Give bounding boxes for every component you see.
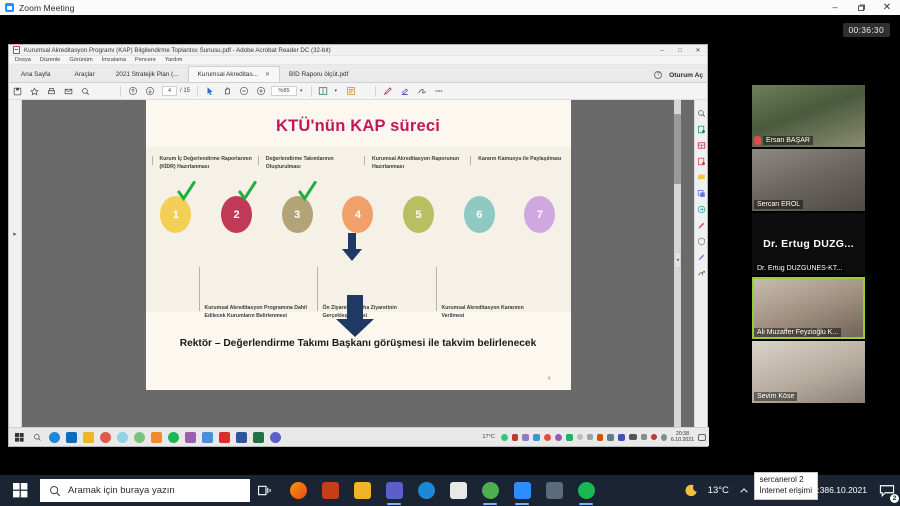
shared-systray: 17°C [482,431,706,444]
acrobat-close-button[interactable]: ✕ [689,45,707,56]
slide-content: KTÜ'nün KAP süreci Kurum İç Değerlendirm… [146,100,571,390]
down-arrow-icon-large [332,295,378,339]
acrobat-toolbar: 4 / 15 %85 ▾ [9,83,707,100]
shared-volume-icon[interactable] [651,434,657,440]
slide-conclusion-text: Rektör – Değerlendirme Takımı Başkanı gö… [176,336,541,352]
shared-tray-icon-5[interactable] [544,434,551,441]
hand-tool-icon[interactable] [218,83,235,100]
checkmark-icon [298,180,317,202]
taskbar-app-video[interactable] [538,475,570,506]
clock-date: 6.10.2021 [829,485,867,496]
step-5: 5 [388,196,449,233]
fill-sign-icon[interactable] [696,252,707,263]
shared-app-spotify[interactable] [165,428,182,447]
shared-app-photos[interactable] [199,428,216,447]
menu-item-gorunum[interactable]: Görünüm [69,57,92,63]
shared-tray-icon-10[interactable] [597,434,603,441]
protect-icon[interactable] [696,236,707,247]
organize-pages-icon[interactable] [696,140,707,151]
tick-mark [364,156,365,165]
tick-mark [152,156,153,165]
zoom-window-titlebar: Zoom Meeting – ✕ [0,0,900,15]
minimize-button[interactable]: – [822,0,848,15]
bottom-label-1: Kurumsal Akreditasyon Programına Dahil E… [205,305,317,320]
edit-pdf-icon[interactable] [696,220,707,231]
meeting-timer: 00:36:30 [843,23,891,37]
page-number-input[interactable]: 4 [162,86,177,96]
highlight-icon[interactable] [396,83,413,100]
shared-desktop-taskbar: 17°C [9,427,709,446]
participant-name: Ersan BAŞAR [763,136,813,145]
sign-icon[interactable] [413,83,430,100]
search-input[interactable]: Aramak için buraya yazın [40,479,250,502]
top-label-text: Kararın Kamuoyu ile Paylaşılması [478,156,570,164]
acrobat-window-controls: – □ ✕ [653,45,707,56]
shared-search-icon[interactable] [29,428,46,447]
more-tools-icon[interactable] [430,83,447,100]
shared-tray-icon-6[interactable] [555,434,562,441]
taskbar-app-zoom[interactable] [506,475,538,506]
pen-icon[interactable] [379,83,396,100]
comment-icon[interactable] [696,172,707,183]
save-icon[interactable] [9,83,26,100]
star-icon[interactable] [26,83,43,100]
print-icon[interactable] [43,83,60,100]
step-circle: 4 [342,196,373,233]
slide-step-circles: 1 2 3 [146,196,571,233]
checkmark-icon [238,180,257,202]
step-4: 4 [328,196,389,233]
shared-tray-icon-13[interactable] [629,434,637,440]
help-icon[interactable]: ? [654,71,662,79]
top-label-1: Kurum İç Değerlendirme Raporlarının (KİD… [146,156,252,171]
top-label-4: Kararın Kamuoyu ile Paylaşılması [464,156,570,171]
slide-page: KTÜ'nün KAP süreci Kurum İç Değerlendirm… [146,100,571,390]
bottom-label-text: Kurumsal Akreditasyon Kararının Verilmes… [442,305,524,319]
zoom-window-title: Zoom Meeting [19,3,75,13]
shared-app-chrome[interactable] [97,428,114,447]
toolbar-divider-4 [375,86,376,97]
maximize-icon [857,4,865,12]
step-2: 2 [206,196,267,233]
slide-top-labels: Kurum İç Değerlendirme Raporlarının (KİD… [146,156,571,171]
participant-display-name: Dr. Ertug DUZG... [752,238,865,250]
step-6: 6 [449,196,510,233]
top-label-2: Değerlendirme Takımlarının Oluşturulması [252,156,358,171]
shared-app-excel[interactable] [250,428,267,447]
shared-clock[interactable]: 20:38 6.10.2021 [671,431,694,444]
acrobat-document-area: ▸ KTÜ'nün KAP süreci Kurum İç Değerlendi… [9,100,707,446]
shared-app-onenote[interactable] [182,428,199,447]
previous-page-icon[interactable] [124,83,141,100]
shared-tray-icon-12[interactable] [618,434,625,441]
acrobat-app-icon [13,46,20,54]
shared-notifications-icon[interactable] [698,434,706,441]
mic-muted-icon [754,136,761,145]
video-tile-ertug-duzgunes[interactable]: Dr. Ertug DUZG... Dr. Ertug DUZGUNES-KT.… [752,213,865,275]
maximize-button[interactable] [848,0,874,15]
task-view-button[interactable] [250,475,280,506]
shared-tray-icon-1[interactable] [501,434,508,441]
tab-bid-raporu[interactable]: BİD Raporu ölçüt.pdf [280,66,357,82]
acrobat-minimize-button[interactable]: – [653,45,671,56]
tab-close-icon[interactable]: ✕ [265,71,270,78]
acrobat-window-title: Kurumsal Akreditasyon Programı (KAP) Bil… [24,47,331,54]
left-navigation-panel[interactable]: ▸ [9,100,22,446]
next-page-icon[interactable] [141,83,158,100]
notification-count: 2 [890,494,899,503]
menu-item-duzenle[interactable]: Düzenle [40,57,61,63]
search-tool-icon[interactable] [696,108,707,119]
redact-icon[interactable] [696,268,707,279]
zoom-out-icon[interactable] [235,83,252,100]
shared-network-icon[interactable] [641,434,647,440]
checkmark-icon [177,180,196,202]
tick-mark [199,267,200,311]
tick-mark [436,267,437,311]
page-display-caret-icon[interactable]: ▾ [335,88,338,94]
shared-tray-icon-4[interactable] [533,434,540,441]
tab-label: Kurumsal Akreditas... [198,71,258,78]
chevron-down-icon[interactable]: ▾ [300,88,303,94]
taskbar-app-whatsapp[interactable] [442,475,474,506]
shared-app-acrobat[interactable] [216,428,233,447]
search-placeholder: Aramak için buraya yazın [68,485,175,496]
tab-stratejik-plan[interactable]: 2021 Stratejik Plan (... [107,66,188,82]
shared-tray-icon-3[interactable] [522,434,529,441]
tick-mark [258,156,259,165]
search-icon[interactable] [77,83,94,100]
taskbar-app-firefox[interactable] [282,475,314,506]
notifications-button[interactable]: 2 [874,475,900,506]
taskbar-app-spotify[interactable] [570,475,602,506]
step-circle: 5 [403,196,434,233]
shared-app-edge[interactable] [46,428,63,447]
toolbar-divider-3 [311,86,312,97]
start-button[interactable] [0,475,40,506]
bottom-label-text: Kurumsal Akreditasyon Programına Dahil E… [205,305,307,319]
shared-app-qbittorrent[interactable] [131,428,148,447]
video-tile-sercan-erol[interactable]: Sercan EROL [752,149,865,211]
scrollbar-thumb[interactable] [674,114,681,184]
toolbar-divider [120,86,121,97]
acrobat-maximize-button[interactable]: □ [671,45,689,56]
shared-tray-icon-11[interactable] [607,434,614,441]
right-tools-panel [694,100,707,446]
tick-mark [317,267,318,311]
page-display-icon[interactable] [315,83,332,100]
top-label-text: Değerlendirme Takımlarının Oluşturulması [266,156,358,171]
shared-battery-icon[interactable] [661,434,667,441]
tick-mark [470,156,471,165]
taskbar-app-folder[interactable] [346,475,378,506]
screen-root: Zoom Meeting – ✕ 00:36:30 Kurumsal Akred… [0,0,900,506]
tab-araclar[interactable]: Araçlar [63,66,107,82]
menu-item-pencere[interactable]: Pencere [135,57,156,63]
shared-app-folder[interactable] [80,428,97,447]
zoom-level-select[interactable]: %85 [271,86,297,96]
bottom-label-3: Kurumsal Akreditasyon Kararının Verilmes… [442,305,542,320]
close-button[interactable]: ✕ [874,0,900,15]
windows-taskbar: Aramak için buraya yazın 13°C [0,475,900,506]
taskbar-app-office[interactable] [314,475,346,506]
top-label-text: Kurum İç Değerlendirme Raporlarının (KİD… [160,156,252,171]
video-tile-ersan-basar[interactable]: Ersan BAŞAR [752,85,865,147]
tab-kurumsal-akreditasyon[interactable]: Kurumsal Akreditas... ✕ [188,66,280,82]
pdf-page-canvas[interactable]: KTÜ'nün KAP süreci Kurum İç Değerlendirm… [22,100,694,446]
chevron-right-icon[interactable]: ▸ [13,230,17,238]
combine-files-icon[interactable] [696,188,707,199]
shared-clock-date: 6.10.2021 [671,437,694,444]
shared-tray-icon-7[interactable] [566,434,573,441]
step-circle: 7 [524,196,555,233]
menu-item-dosya[interactable]: Dosya [15,57,31,63]
shared-screen-area: Kurumsal Akreditasyon Programı (KAP) Bil… [8,44,708,447]
shared-app-outlook[interactable] [63,428,80,447]
step-1: 1 [146,196,207,233]
step-7: 7 [510,196,571,233]
top-label-text: Kurumsal Akreditasyon Raporunun Hazırlan… [372,156,464,171]
top-label-3: Kurumsal Akreditasyon Raporunun Hazırlan… [358,156,464,171]
shared-app-notes[interactable] [148,428,165,447]
participant-name: Dr. Ertug DUZGUNES-KT... [754,264,845,273]
acrobat-tabbar-right: ? Oturum Aç [654,71,703,79]
step-circle: 6 [464,196,495,233]
taskbar-app-chrome[interactable] [474,475,506,506]
document-scrollbar[interactable] [674,100,681,446]
step-3: 3 [267,196,328,233]
shared-start-button[interactable] [9,428,29,447]
slide-title: KTÜ'nün KAP süreci [146,117,571,136]
acrobat-tabbar: Ana Sayfa Araçlar 2021 Stratejik Plan (.… [9,65,707,83]
zoom-in-icon[interactable] [252,83,269,100]
toolbar-divider-2 [197,86,198,97]
zoom-logo-icon [5,3,14,12]
network-tooltip: sercanerol 2 İnternet erişimi [754,472,818,500]
show-hidden-icons-button[interactable] [734,475,754,506]
participant-name: Ali Muzaffer Feyzioğlu K... [754,328,841,337]
menu-item-yardim[interactable]: Yardım [165,57,183,63]
shared-tray-icon-8[interactable] [577,434,583,440]
down-arrow-icon-small [340,233,364,263]
network-status: İnternet erişimi [760,486,812,497]
create-pdf-icon[interactable] [696,156,707,167]
collapse-right-pane-button[interactable]: ◂ [674,252,681,268]
acrobat-menubar: Dosya Düzenle Görünüm İmzalama Pencere Y… [9,56,707,65]
read-aloud-icon[interactable] [342,83,359,100]
shared-tray-icon-9[interactable] [587,434,593,440]
zoom-level-value: %85 [278,88,289,94]
weather-icon[interactable] [679,475,703,506]
taskbar-apps [282,475,602,506]
page-navigator: 4 / 15 [162,86,190,96]
tab-ana-sayfa[interactable]: Ana Sayfa [9,66,63,82]
network-ssid: sercanerol 2 [760,475,812,486]
acrobat-window: Kurumsal Akreditasyon Programı (KAP) Bil… [8,44,708,447]
search-icon [49,485,61,497]
participant-name: Sevim Köse [754,392,797,401]
sign-in-button[interactable]: Oturum Aç [669,72,703,79]
page-total-label: / 15 [180,88,190,94]
weather-temperature[interactable]: 13°C [703,475,734,506]
menu-item-imzalama[interactable]: İmzalama [102,57,126,63]
shared-tray-icon-2[interactable] [512,434,518,441]
shared-app-browser2[interactable] [114,428,131,447]
select-tool-icon[interactable] [201,83,218,100]
export-pdf-icon[interactable] [696,124,707,135]
shared-app-teams[interactable] [267,428,284,447]
participant-name: Sercan EROL [754,200,803,209]
video-tile-sevim-kose[interactable]: Sevim Köse [752,341,865,403]
participant-video-strip: Ersan BAŞAR Sercan EROL Dr. Ertug DUZG..… [752,85,865,405]
acrobat-titlebar: Kurumsal Akreditasyon Programı (KAP) Bil… [9,45,707,56]
share-icon[interactable] [696,204,707,215]
taskbar-app-edge[interactable] [410,475,442,506]
email-icon[interactable] [60,83,77,100]
taskbar-app-teams[interactable] [378,475,410,506]
shared-weather: 17°C [482,434,495,440]
shared-app-word[interactable] [233,428,250,447]
zoom-window-controls: – ✕ [822,0,900,15]
video-tile-ali-muzaffer-feyzioglu[interactable]: Ali Muzaffer Feyzioğlu K... [752,277,865,339]
slide-page-number: 4 [547,376,550,382]
